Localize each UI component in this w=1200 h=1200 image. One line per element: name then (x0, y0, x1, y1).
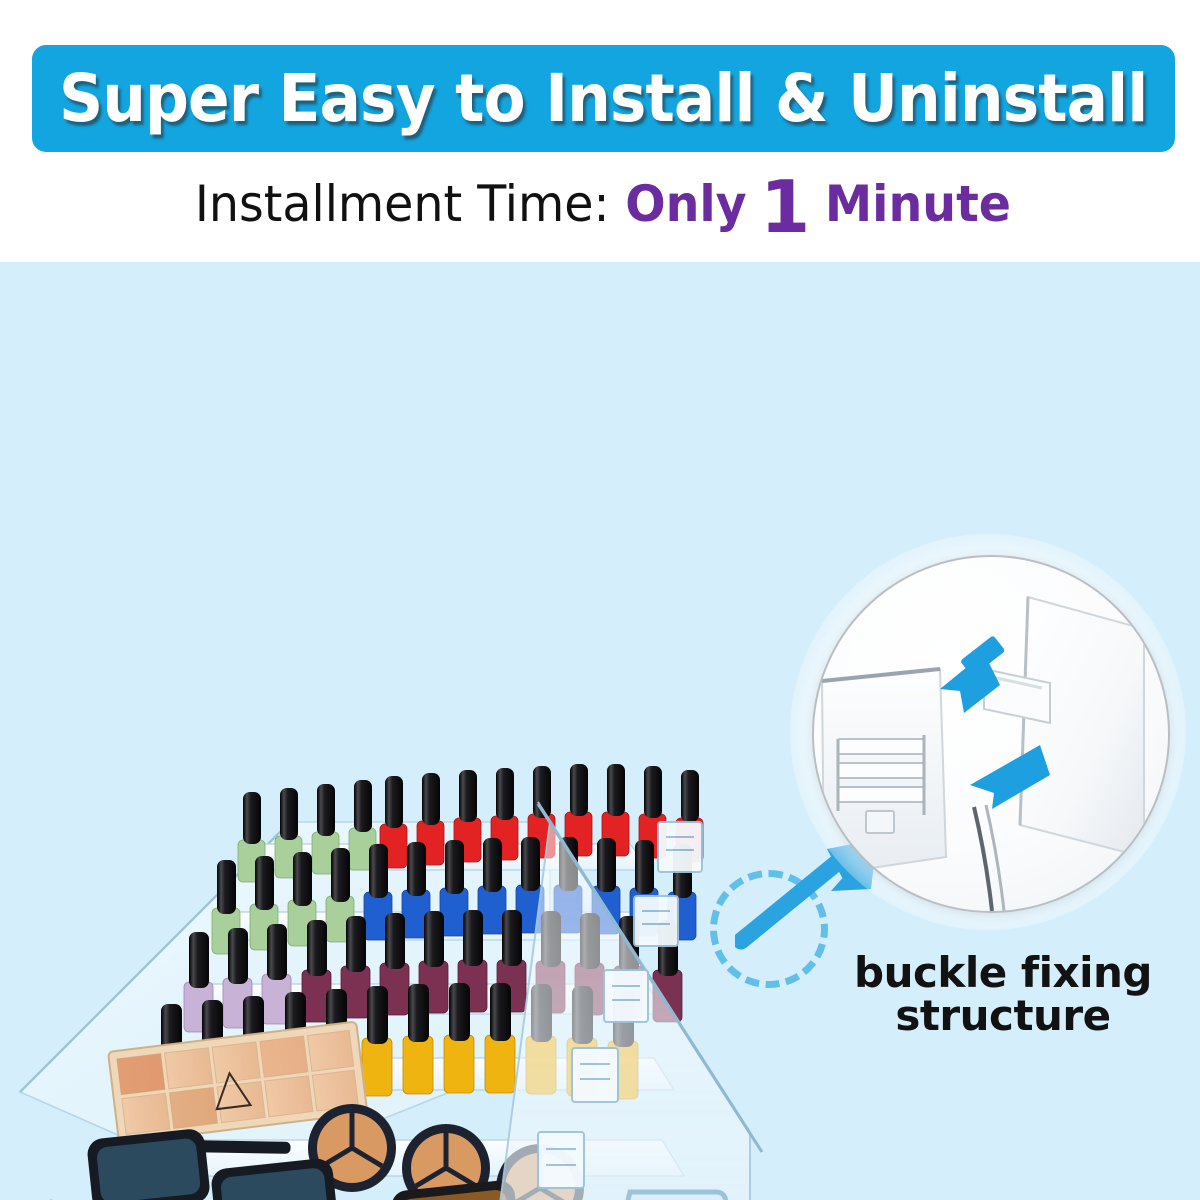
product-photo-stage: buckle fixing structure (0, 262, 1200, 1200)
buckle-tab (604, 970, 648, 1022)
subtitle-row: Installment Time: Only 1 Minute (0, 168, 1200, 240)
header-area: Super Easy to Install & Uninstall Instal… (0, 0, 1200, 262)
headline-text: Super Easy to Install & Uninstall (59, 66, 1147, 132)
buckle-caption-line2: structure (838, 995, 1168, 1038)
subtitle-unit: Minute (825, 179, 1011, 229)
acrylic-organizer-photo (0, 492, 850, 1200)
buckle-tab (658, 822, 702, 872)
nail-polish-row-lavender (184, 924, 291, 1032)
headline-banner: Super Easy to Install & Uninstall (32, 45, 1175, 152)
product-marketing-image: Super Easy to Install & Uninstall Instal… (0, 0, 1200, 1200)
buckle-caption: buckle fixing structure (838, 952, 1168, 1038)
buckle-tab (538, 1132, 584, 1188)
subtitle-label: Installment Time: (195, 179, 610, 229)
buckle-tab (634, 896, 678, 946)
subtitle-minute-number: 1 (760, 171, 810, 243)
nail-polish-row-red (380, 764, 703, 868)
subtitle-only-word: Only (625, 179, 746, 229)
buckle-closeup-illustration (814, 557, 1168, 911)
buckle-tab (572, 1048, 618, 1102)
buckle-caption-line1: buckle fixing (854, 948, 1152, 997)
magnifier-inset (812, 555, 1170, 913)
